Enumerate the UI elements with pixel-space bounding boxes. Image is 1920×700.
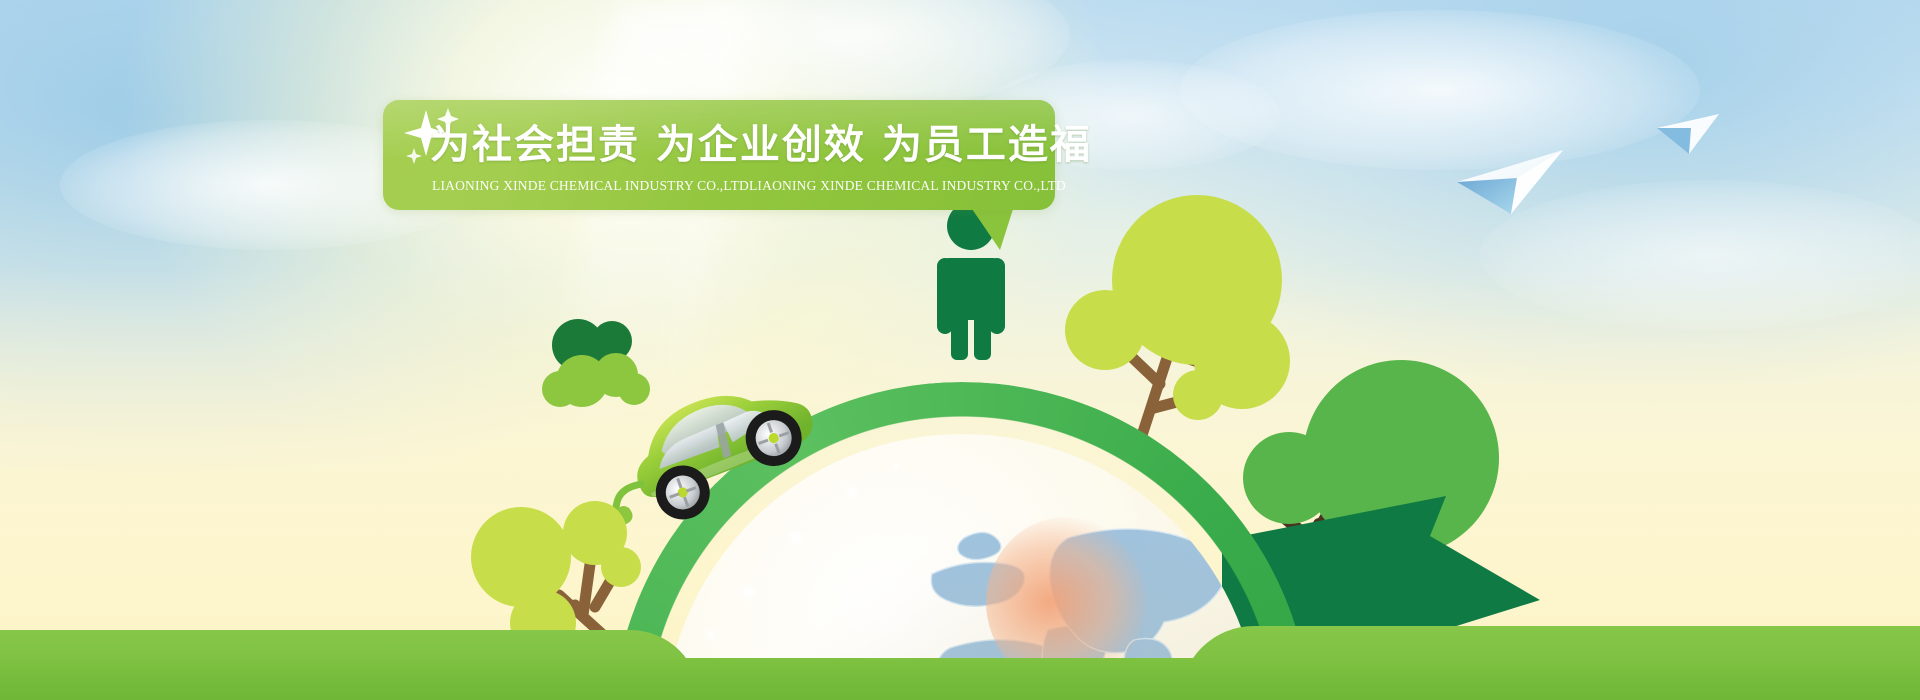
page-title: 为社会担责 为企业创效 为员工造福 [430, 112, 1050, 170]
ground-strip [0, 658, 1920, 700]
sparkle-icon [824, 570, 829, 575]
sparkle-icon [792, 534, 800, 542]
paper-plane-icon [1455, 140, 1575, 220]
sparkle-icon [848, 488, 855, 495]
banner-stage: 为社会担责 为企业创效 为员工造福 LIAONING XINDE CHEMICA… [0, 0, 1920, 700]
company-subtitle: LIAONING XINDE CHEMICAL INDUSTRY CO.,LTD… [432, 178, 1052, 194]
paper-plane-icon [1655, 108, 1725, 158]
speech-bubble-tail [970, 206, 1014, 250]
sparkle-icon [894, 464, 899, 469]
sparkle-icon [744, 588, 753, 597]
sparkle-icon [708, 632, 713, 637]
